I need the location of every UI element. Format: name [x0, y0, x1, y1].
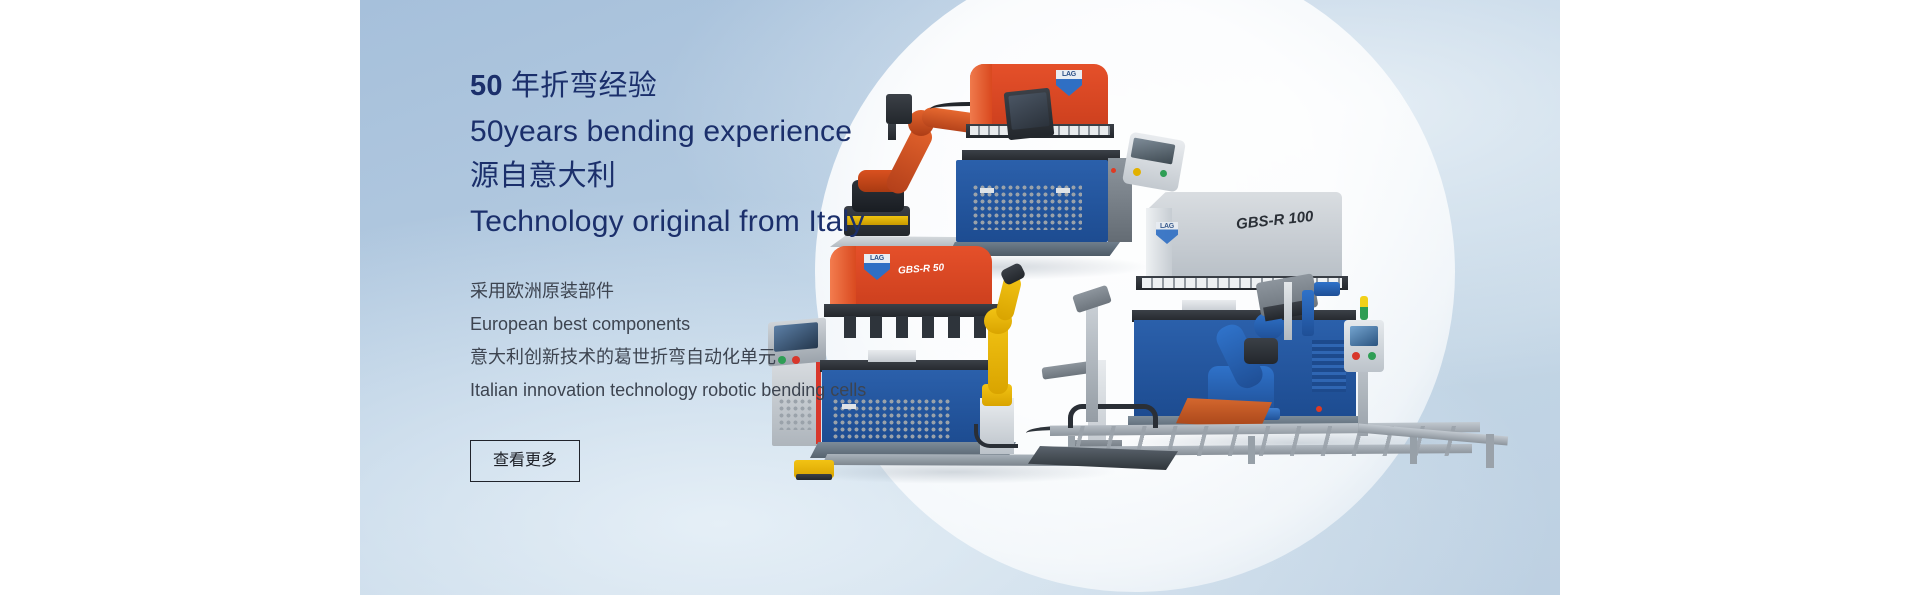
- robot-cable-harness: [974, 424, 1018, 448]
- cabinet-handle-left: [980, 188, 994, 193]
- view-more-button[interactable]: 查看更多: [470, 440, 580, 482]
- lag-logo: LAG: [1156, 222, 1178, 244]
- rail-leg-mid: [1248, 436, 1255, 464]
- hmi-panel-button: [1368, 352, 1376, 360]
- subtext-line-2: European best components: [470, 308, 940, 341]
- backgauge-bracket: [1314, 282, 1340, 296]
- workpiece-sheet: [1176, 398, 1272, 428]
- robot-wrist: [1244, 338, 1278, 364]
- hero-banner: LAG: [360, 0, 1560, 595]
- machine-cell-gbs-r-100: LAG GBS-R 100: [1058, 178, 1538, 478]
- lag-logo: LAG: [1056, 70, 1082, 96]
- signal-tower: [1360, 296, 1368, 320]
- subtext-line-3: 意大利创新技术的葛世折弯自动化单元: [470, 341, 940, 374]
- headline-line-1: 50 年折弯经验: [470, 64, 940, 109]
- cabinet-vent-slots: [1312, 340, 1346, 392]
- hmi-panel-estop: [1352, 352, 1360, 360]
- loading-mast: [1086, 296, 1098, 422]
- rail-leg-right: [1410, 436, 1417, 464]
- subtext-line-4: Italian innovation technology robotic be…: [470, 374, 940, 407]
- hydraulic-actuator-a: [1302, 290, 1314, 336]
- banner-text-column: 50 年折弯经验 50years bending experience 源自意大…: [470, 0, 940, 595]
- subtext-line-1: 采用欧洲原装部件: [470, 275, 940, 308]
- banner-subtext: 采用欧洲原装部件 European best components 意大利创新技…: [470, 275, 940, 407]
- headline-line-1-rest: 年折弯经验: [503, 70, 657, 102]
- cabinet-indicator: [1316, 406, 1322, 412]
- operator-monitor-screen: [1008, 92, 1049, 130]
- headline-line-4: Technology original from Italy: [470, 199, 940, 244]
- headline-line-3: 源自意大利: [470, 154, 940, 199]
- energy-chain: [1068, 404, 1158, 428]
- emergency-stop-light: [1111, 168, 1116, 173]
- banner-stage: LAG: [0, 0, 1920, 595]
- headline-line-2: 50years bending experience: [470, 109, 940, 154]
- hmi-panel-screen: [1350, 326, 1378, 346]
- hydraulic-rod-a: [1284, 282, 1292, 340]
- headline-number: 50: [470, 70, 503, 102]
- support-stand-leg: [1486, 434, 1494, 468]
- banner-headline: 50 年折弯经验 50years bending experience 源自意大…: [470, 64, 940, 244]
